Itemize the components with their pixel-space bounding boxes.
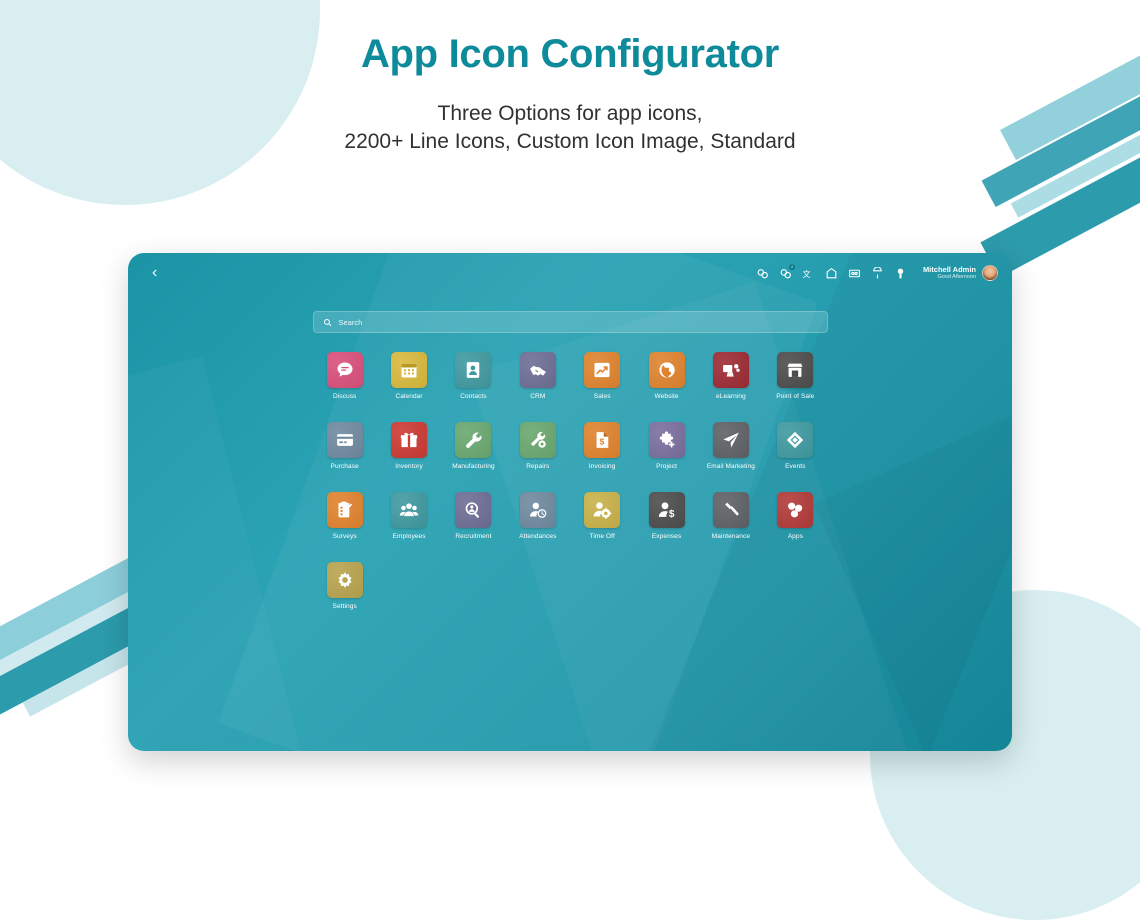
app-label: Settings (333, 603, 357, 610)
app-label: Calendar (395, 393, 422, 400)
signal-icon[interactable] (871, 266, 885, 280)
app-label: Surveys (333, 533, 357, 540)
user-text: Mitchell Admin Good Afternoon (923, 266, 976, 281)
app-label: Employees (393, 533, 426, 540)
app-tile-repairs[interactable]: Repairs (506, 422, 570, 470)
translate-icon[interactable]: 文 (802, 266, 816, 280)
app-label: eLearning (716, 393, 746, 400)
app-label: Inventory (395, 463, 423, 470)
app-label: Email Marketing (707, 463, 755, 470)
app-tile-time-off[interactable]: Time Off (570, 492, 634, 540)
app-tile-sales[interactable]: Sales (570, 352, 634, 400)
handshake-icon (520, 352, 556, 388)
app-label: Manufacturing (452, 463, 495, 470)
app-tile-crm[interactable]: CRM (506, 352, 570, 400)
app-label: CRM (530, 393, 545, 400)
app-tile-apps[interactable]: Apps (763, 492, 827, 540)
globe-icon (649, 352, 685, 388)
wrench-gear-icon (520, 422, 556, 458)
app-label: Attendances (519, 533, 556, 540)
svg-text:$: $ (668, 509, 674, 520)
app-tile-contacts[interactable]: Contacts (441, 352, 505, 400)
messages-icon[interactable] (756, 266, 770, 280)
app-label: Time Off (590, 533, 615, 540)
app-tile-website[interactable]: Website (634, 352, 698, 400)
page-subtitle-line1: Three Options for app icons, (0, 100, 1140, 128)
app-label: Events (785, 463, 805, 470)
app-label: Invoicing (589, 463, 616, 470)
app-label: Apps (788, 533, 803, 540)
contact-card-icon (455, 352, 491, 388)
blocks-icon (777, 492, 813, 528)
app-label: Expenses (652, 533, 681, 540)
search-input[interactable]: Search (313, 311, 828, 333)
app-tile-settings[interactable]: Settings (313, 562, 377, 610)
app-tile-attendances[interactable]: Attendances (506, 492, 570, 540)
app-label: Website (655, 393, 679, 400)
avatar[interactable] (982, 265, 998, 281)
app-tile-maintenance[interactable]: Maintenance (699, 492, 763, 540)
app-tile-calendar[interactable]: Calendar (377, 352, 441, 400)
app-tile-employees[interactable]: Employees (377, 492, 441, 540)
user-greeting: Good Afternoon (923, 274, 976, 280)
box-icon (391, 422, 427, 458)
window-topbar: ‹ 1 文 (128, 253, 1012, 293)
search-person-icon (455, 492, 491, 528)
credit-card-icon (327, 422, 363, 458)
search-icon (323, 318, 332, 327)
app-tile-discuss[interactable]: Discuss (313, 352, 377, 400)
user-menu[interactable]: Mitchell Admin Good Afternoon (923, 265, 998, 281)
app-tile-project[interactable]: Project (634, 422, 698, 470)
person-clock-icon (520, 492, 556, 528)
app-tile-expenses[interactable]: $Expenses (634, 492, 698, 540)
hero-section: App Icon Configurator Three Options for … (0, 0, 1140, 157)
wrench-icon (455, 422, 491, 458)
activity-badge: 1 (789, 264, 795, 270)
app-tile-recruitment[interactable]: Recruitment (441, 492, 505, 540)
app-label: Sales (594, 393, 611, 400)
app-grid-area: DiscussCalendarContactsCRMSalesWebsiteeL… (128, 352, 1012, 610)
search-area: Search (128, 311, 1012, 333)
app-tile-point-of-sale[interactable]: Point of Sale (763, 352, 827, 400)
svg-text:文: 文 (803, 268, 811, 278)
app-label: Project (656, 463, 677, 470)
app-label: Maintenance (712, 533, 750, 540)
shop-icon (777, 352, 813, 388)
person-dollar-icon: $ (649, 492, 685, 528)
ticket-icon (777, 422, 813, 458)
app-tile-elearning[interactable]: eLearning (699, 352, 763, 400)
app-label: Repairs (526, 463, 549, 470)
app-tile-invoicing[interactable]: $Invoicing (570, 422, 634, 470)
gallery-icon[interactable] (848, 266, 862, 280)
svg-text:$: $ (600, 437, 605, 447)
invoice-icon: $ (584, 422, 620, 458)
app-grid: DiscussCalendarContactsCRMSalesWebsiteeL… (313, 352, 828, 610)
person-gear-icon (584, 492, 620, 528)
app-label: Point of Sale (776, 393, 814, 400)
app-tile-surveys[interactable]: Surveys (313, 492, 377, 540)
activities-icon[interactable]: 1 (779, 266, 793, 280)
chart-up-icon (584, 352, 620, 388)
app-label: Recruitment (455, 533, 491, 540)
bulb-icon[interactable] (894, 266, 908, 280)
search-placeholder: Search (339, 318, 363, 327)
paper-plane-icon (713, 422, 749, 458)
home-icon[interactable] (825, 266, 839, 280)
calendar-icon (391, 352, 427, 388)
chat-icon (327, 352, 363, 388)
page-subtitle: Three Options for app icons, 2200+ Line … (0, 100, 1140, 157)
clipboard-pen-icon (327, 492, 363, 528)
app-tile-manufacturing[interactable]: Manufacturing (441, 422, 505, 470)
user-name: Mitchell Admin (923, 266, 976, 275)
back-icon[interactable]: ‹ (152, 265, 157, 281)
app-label: Contacts (460, 393, 486, 400)
app-tile-email-marketing[interactable]: Email Marketing (699, 422, 763, 470)
app-label: Purchase (331, 463, 359, 470)
systray: 1 文 (756, 265, 998, 281)
hammer-icon (713, 492, 749, 528)
page-title: App Icon Configurator (0, 30, 1140, 78)
app-tile-events[interactable]: Events (763, 422, 827, 470)
puzzle-plus-icon (649, 422, 685, 458)
projector-icon (713, 352, 749, 388)
gear-icon (327, 562, 363, 598)
page-subtitle-line2: 2200+ Line Icons, Custom Icon Image, Sta… (0, 128, 1140, 156)
app-tile-purchase[interactable]: Purchase (313, 422, 377, 470)
app-tile-inventory[interactable]: Inventory (377, 422, 441, 470)
people-icon (391, 492, 427, 528)
app-launcher-window: ‹ 1 文 (128, 253, 1012, 751)
app-label: Discuss (333, 393, 356, 400)
